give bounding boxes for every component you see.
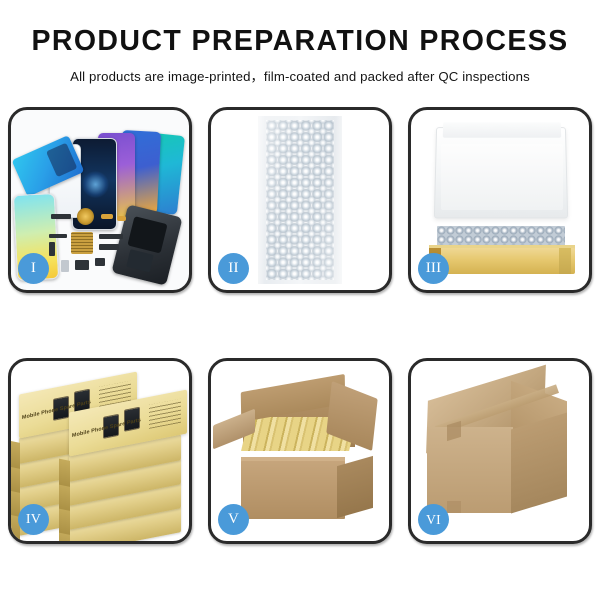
stack-box-side (59, 507, 70, 535)
step-panel-5: V (208, 358, 392, 544)
step-panel-4: Mobile Phone Spare Parts Mobile Phone Sp… (8, 358, 192, 544)
page-title: PRODUCT PREPARATION PROCESS (0, 27, 600, 57)
part-ribbon-b (49, 242, 55, 256)
header: PRODUCT PREPARATION PROCESS All products… (0, 0, 600, 85)
part-metal-bracket (61, 260, 69, 272)
step-panel-6: VI (408, 358, 592, 544)
step-badge-4: IV (18, 504, 49, 535)
page-subtitle: All products are image-printed，film-coat… (0, 66, 600, 85)
step-panel-1: I (8, 107, 192, 293)
stack-box-side (11, 465, 20, 493)
part-small-module (95, 258, 105, 266)
part-camera-module (75, 260, 89, 270)
stack-box-side (59, 483, 70, 511)
stack-box-side (59, 459, 70, 487)
kraft-box-right-edge (559, 248, 571, 274)
carton-tab-lower (447, 501, 461, 513)
step-panel-3: III (408, 107, 592, 293)
spare-parts-cluster (49, 208, 141, 278)
part-gold-chip (101, 214, 113, 219)
carton-front-wall (241, 461, 345, 519)
kraft-box-front (429, 248, 575, 274)
part-ribbon-a (49, 234, 67, 238)
stack-box-side (11, 441, 20, 469)
sealed-carton-side (511, 412, 567, 513)
foam-insert (441, 144, 563, 210)
step-badge-6: VI (418, 504, 449, 535)
product-preparation-infographic: PRODUCT PREPARATION PROCESS All products… (0, 0, 600, 600)
plastic-sheen (258, 116, 342, 284)
step-badge-1: I (18, 253, 49, 284)
step-badge-5: V (218, 504, 249, 535)
step-panel-2: II (208, 107, 392, 293)
foam-lid-flap (443, 122, 561, 137)
part-flex-cable (51, 214, 71, 219)
part-ribbon-c (99, 234, 123, 239)
part-connector-grid (71, 232, 93, 254)
step-badge-2: II (218, 253, 249, 284)
part-speaker-coil (77, 208, 94, 225)
bubble-wrap-sleeve (258, 116, 342, 284)
process-steps-grid: I II (8, 107, 592, 544)
part-gold-chip-small (117, 216, 126, 221)
part-ribbon-d (99, 244, 119, 250)
label-spec-lines (149, 399, 181, 429)
carton-side-wall (337, 456, 373, 518)
step-badge-3: III (418, 253, 449, 284)
sealed-carton-front (427, 427, 513, 513)
